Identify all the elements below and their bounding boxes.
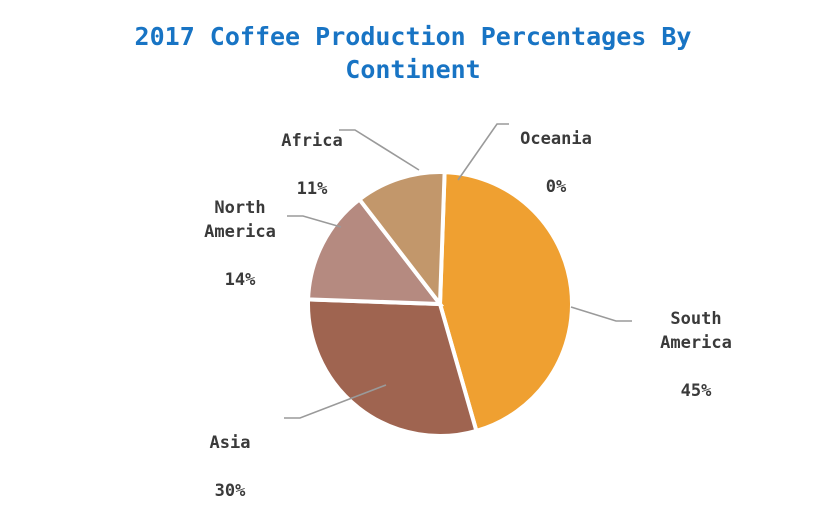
pie-label-africa-name: Africa xyxy=(232,129,392,153)
pie-label-south-america-name: South America xyxy=(632,307,760,355)
pie-label-oceania: Oceania 0% xyxy=(492,103,620,223)
pie-label-south-america: South America 45% xyxy=(632,283,760,427)
pie-label-asia: Asia 30% xyxy=(166,407,294,527)
pie-label-north-america: North America 14% xyxy=(160,172,320,316)
pie-label-oceania-percent: 0% xyxy=(492,175,620,199)
pie-label-south-america-percent: 45% xyxy=(632,379,760,403)
pie-label-asia-name: Asia xyxy=(166,431,294,455)
pie-label-asia-percent: 30% xyxy=(166,479,294,503)
pie-label-north-america-percent: 14% xyxy=(160,268,320,292)
leader-line-south-america xyxy=(571,307,632,321)
pie-label-oceania-name: Oceania xyxy=(492,127,620,151)
pie-label-north-america-name: North America xyxy=(160,196,320,244)
pie-chart-figure: 2017 Coffee Production Percentages By Co… xyxy=(0,0,826,487)
